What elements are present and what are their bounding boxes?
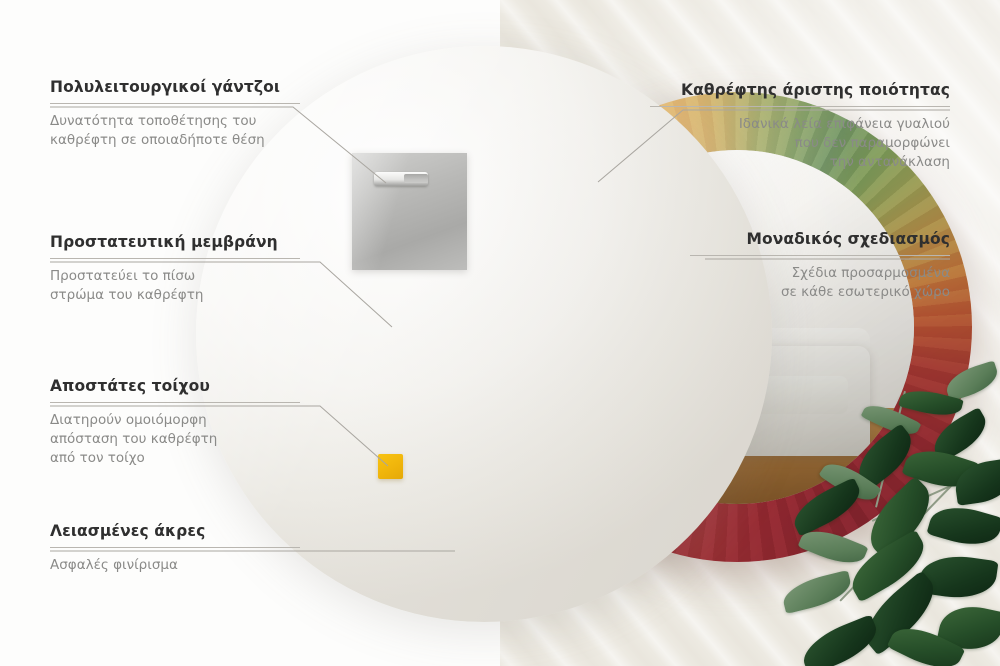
callout-wall-spacers: Αποστάτες τοίχου Διατηρούν ομοιόμορφη απ… (50, 377, 300, 468)
infographic-stage: Πολυλειτουργικοί γάντζοι Δυνατότητα τοπο… (0, 0, 1000, 666)
callout-rule (650, 106, 950, 107)
callout-description: Διατηρούν ομοιόμορφη απόσταση του καθρέφ… (50, 411, 300, 468)
callout-unique-design: Μοναδικός σχεδιασμός Σχέδια προσαρμοσμέν… (690, 230, 950, 302)
callout-multifunctional-hooks: Πολυλειτουργικοί γάντζοι Δυνατότητα τοπο… (50, 78, 300, 150)
callout-rule (50, 103, 300, 104)
callout-title: Προστατευτική μεμβράνη (50, 233, 300, 251)
callout-description: Προστατεύει το πίσω στρώμα του καθρέφτη (50, 267, 300, 305)
callout-title: Μοναδικός σχεδιασμός (690, 230, 950, 248)
callout-description: Ιδανικά λεία επιφάνεια γυαλιού που δεν π… (650, 115, 950, 172)
hook-plate-gloss (352, 153, 467, 270)
callout-description: Σχέδια προσαρμοσμένα σε κάθε εσωτερικό χ… (690, 264, 950, 302)
callout-rule (50, 258, 300, 259)
callout-smoothed-edges: Λειασμένες άκρες Ασφαλές φινίρισμα (50, 522, 300, 575)
callout-title: Λειασμένες άκρες (50, 522, 300, 540)
callout-protective-membrane: Προστατευτική μεμβράνη Προστατεύει το πί… (50, 233, 300, 305)
callout-rule (50, 547, 300, 548)
hook-slot-inner (404, 174, 428, 183)
callout-title: Πολυλειτουργικοί γάντζοι (50, 78, 300, 96)
wall-spacer (378, 454, 403, 479)
callout-title: Καθρέφτης άριστης ποιότητας (650, 81, 950, 99)
callout-rule (50, 402, 300, 403)
callout-title: Αποστάτες τοίχου (50, 377, 300, 395)
callout-top-quality-mirror: Καθρέφτης άριστης ποιότητας Ιδανικά λεία… (650, 81, 950, 172)
callout-description: Ασφαλές φινίρισμα (50, 556, 300, 575)
callout-description: Δυνατότητα τοποθέτησης του καθρέφτη σε ο… (50, 112, 300, 150)
callout-rule (690, 255, 950, 256)
